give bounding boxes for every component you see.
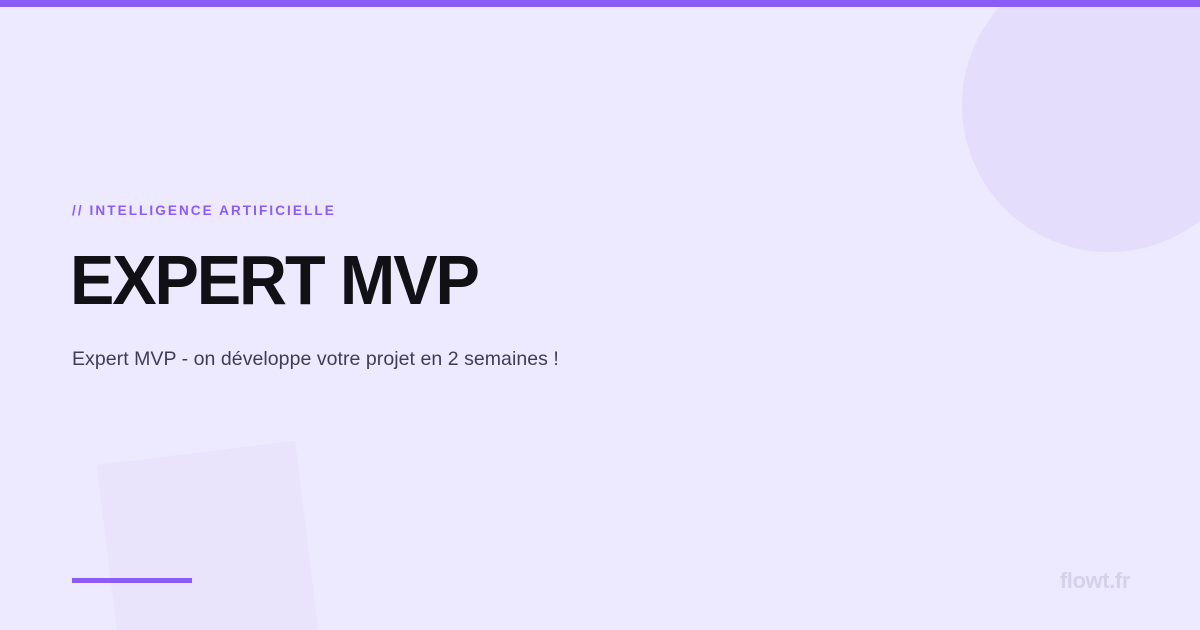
brand-logo: flowt.fr [1060,568,1130,594]
underline-accent [72,578,192,583]
page-title: EXPERT MVP [70,245,478,315]
page-subtitle: Expert MVP - on développe votre projet e… [72,348,559,371]
og-card: // INTELLIGENCE ARTIFICIELLE EXPERT MVP … [0,0,1200,630]
hero-content: // INTELLIGENCE ARTIFICIELLE EXPERT MVP … [72,0,1072,630]
category-eyebrow: // INTELLIGENCE ARTIFICIELLE [72,203,336,218]
